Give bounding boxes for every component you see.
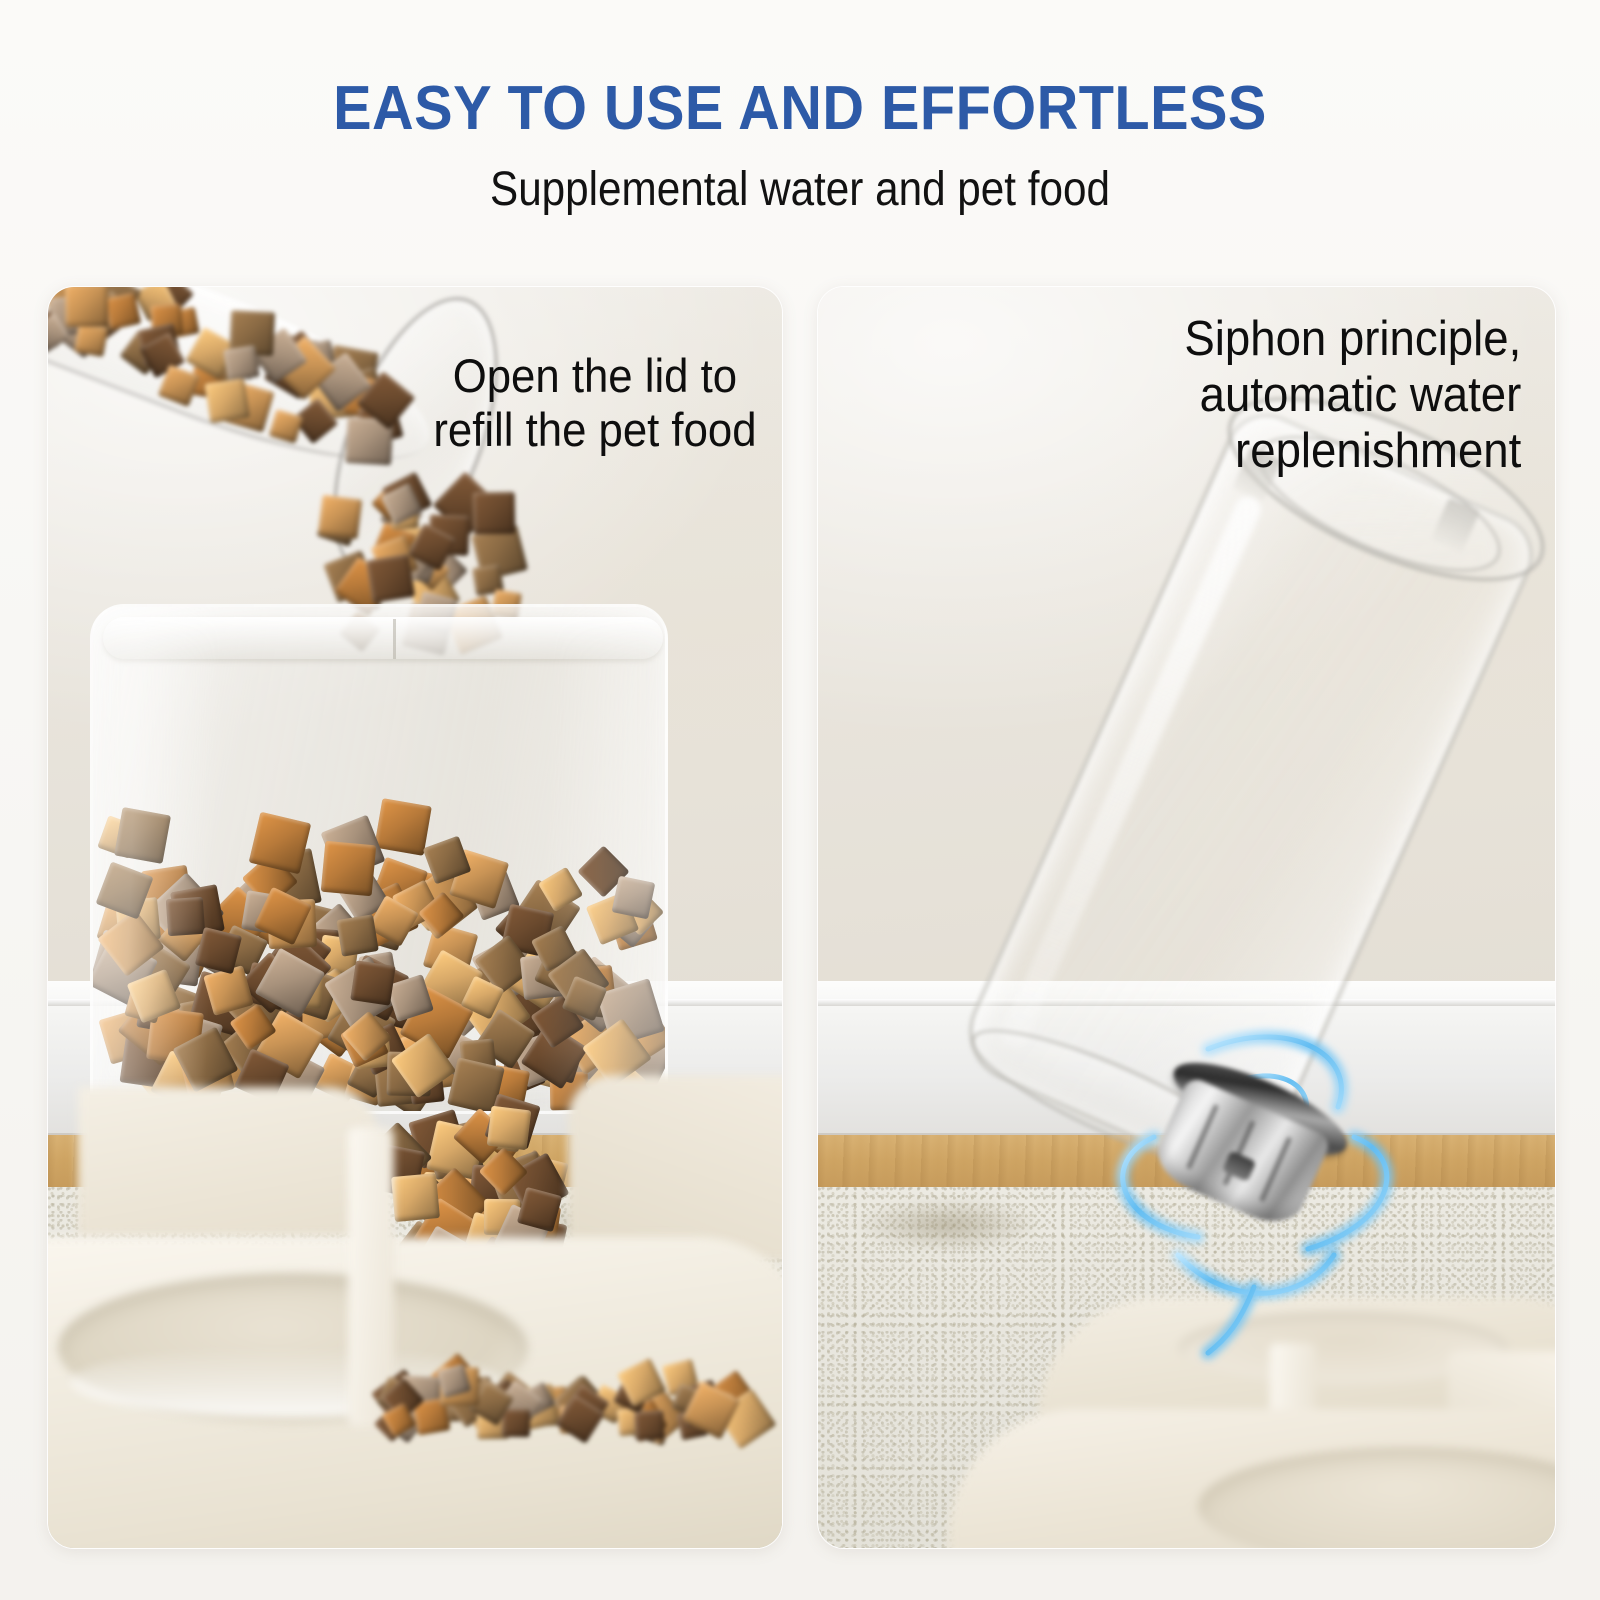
base-spout-right [568, 1075, 782, 1261]
kibble-piece [487, 1106, 532, 1151]
caption-line-3: replenishment [1184, 424, 1521, 480]
kibble-piece [65, 287, 108, 327]
caption-line-1: Siphon principle, [1184, 312, 1521, 368]
panel-food-refill[interactable]: Open the lid to refill the pet food [48, 287, 782, 1548]
kibble-piece [223, 345, 260, 382]
caption-line-2: automatic water [1184, 368, 1521, 424]
kibble-piece [391, 1173, 440, 1222]
kibble-piece [612, 876, 655, 919]
kibble-piece [114, 807, 172, 865]
kibble-piece [318, 494, 363, 539]
feeder-base [948, 1297, 1555, 1548]
hopper-seam [393, 619, 396, 659]
hopper-kibble-fill [93, 781, 665, 1111]
food-hopper [90, 604, 668, 1114]
kibble-piece [473, 491, 516, 534]
panel-water-siphon[interactable]: Siphon principle, automatic water replen… [818, 287, 1555, 1548]
kibble-piece [374, 798, 432, 856]
kibble-piece [365, 554, 414, 603]
caption-line-1: Open the lid to [433, 349, 756, 403]
kibble-piece [634, 1410, 665, 1441]
kibble-piece [336, 914, 378, 956]
hopper-rim [103, 617, 663, 659]
headline: EASY TO USE AND EFFORTLESS [56, 78, 1544, 140]
base-spout-left [78, 1087, 378, 1237]
kibble-piece [205, 378, 251, 424]
header: EASY TO USE AND EFFORTLESS Supplemental … [0, 0, 1600, 280]
dispensed-food-pile [378, 1353, 778, 1443]
caption-line-2: refill the pet food [433, 403, 756, 457]
kibble-piece [166, 896, 206, 936]
kibble-piece [248, 811, 310, 873]
caption-food-refill: Open the lid to refill the pet food [433, 349, 756, 456]
kibble-piece [502, 1409, 530, 1437]
valve-slot-3 [1259, 1136, 1292, 1202]
panel-row: Open the lid to refill the pet food [0, 287, 1600, 1548]
infographic-page: EASY TO USE AND EFFORTLESS Supplemental … [0, 0, 1600, 1600]
valve-slot-1 [1186, 1104, 1219, 1170]
kibble-piece [321, 841, 377, 897]
caption-water-siphon: Siphon principle, automatic water replen… [1184, 312, 1521, 480]
subheadline: Supplemental water and pet food [96, 166, 1504, 214]
carpet-shadow [858, 1199, 1038, 1251]
kibble-piece [73, 323, 108, 358]
kibble-piece [351, 960, 396, 1005]
